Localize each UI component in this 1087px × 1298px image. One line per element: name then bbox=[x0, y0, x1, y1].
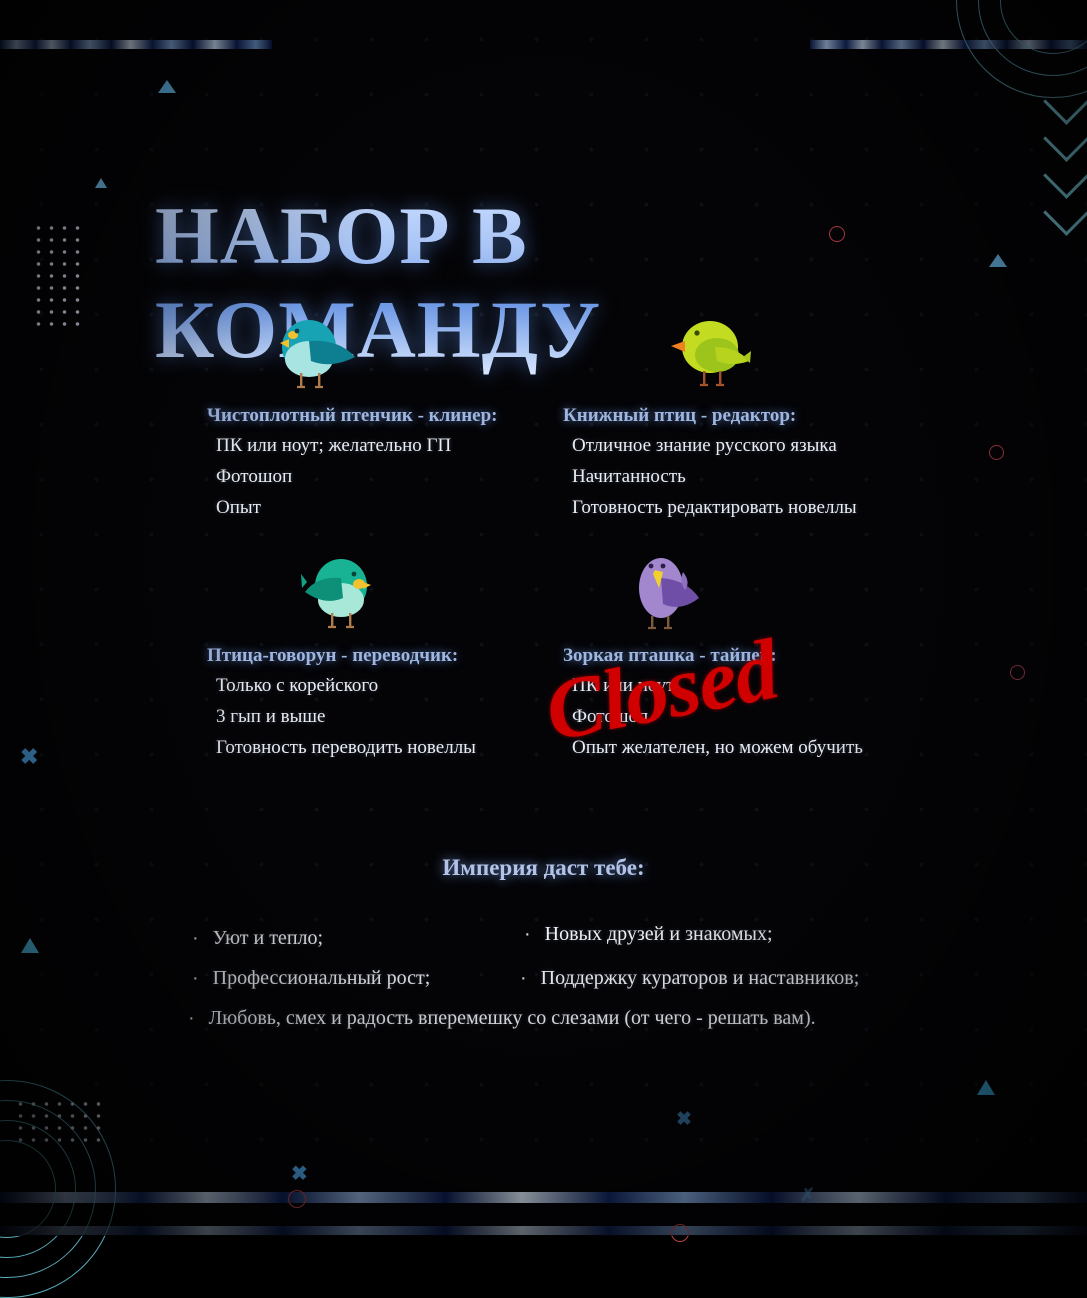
bird-icon-purple bbox=[625, 550, 711, 634]
role-heading: Зоркая пташка - тайпер: bbox=[563, 645, 863, 667]
role-item: Только с корейского bbox=[216, 674, 476, 698]
role-item: Фотошоп bbox=[216, 465, 498, 489]
decor-streak-bar-bottom-2 bbox=[0, 1226, 1087, 1235]
background-texture bbox=[0, 0, 1087, 1236]
benefit-text: Профессиональный рост; bbox=[213, 967, 431, 990]
bird-icon-green-teal bbox=[297, 552, 383, 634]
role-item: Отличное знание русского языка bbox=[572, 434, 857, 458]
bullet-icon: · bbox=[192, 968, 199, 988]
decor-x-icon: ✖ bbox=[291, 1164, 308, 1184]
role-block-translator: Птица-говорун - переводчик: Только с кор… bbox=[207, 645, 476, 766]
role-heading: Книжный птиц - редактор: bbox=[563, 405, 857, 427]
benefit-item: · Новых друзей и знакомых; bbox=[524, 923, 773, 946]
decor-x-icon: ✖ bbox=[676, 1110, 692, 1129]
decor-triangle-icon bbox=[989, 254, 1007, 267]
chevron-down-icon bbox=[1043, 189, 1087, 236]
role-heading: Чистоплотный птенчик - клинер: bbox=[207, 405, 498, 427]
bird-illustration-cleaner bbox=[269, 313, 361, 398]
role-block-cleaner: Чистоплотный птенчик - клинер: ПК или но… bbox=[207, 405, 498, 526]
role-item: Фотошоп bbox=[572, 705, 863, 729]
bird-illustration-typer bbox=[625, 550, 711, 639]
bullet-icon: · bbox=[192, 928, 199, 948]
role-item: ПК или ноут bbox=[572, 674, 863, 698]
decor-triangle-icon bbox=[158, 80, 176, 93]
decor-streak-bar-top-left bbox=[0, 40, 272, 49]
role-item: Готовность переводить новеллы bbox=[216, 736, 476, 760]
decor-circle-icon bbox=[989, 445, 1004, 460]
decor-triangle-icon bbox=[21, 938, 39, 953]
benefit-item: · Профессиональный рост; bbox=[192, 967, 430, 990]
bullet-icon: · bbox=[520, 968, 527, 988]
bird-illustration-editor bbox=[655, 313, 753, 398]
bullet-icon: · bbox=[524, 924, 531, 944]
benefit-text: Новых друзей и знакомых; bbox=[545, 923, 773, 946]
decor-streak-bar-bottom bbox=[0, 1192, 1087, 1203]
bullet-icon: · bbox=[188, 1008, 195, 1028]
benefit-text: Поддержку кураторов и наставников; bbox=[541, 967, 860, 990]
decor-triangle-icon bbox=[977, 1080, 995, 1095]
benefit-item: · Уют и тепло; bbox=[192, 927, 323, 950]
role-item: Опыт bbox=[216, 496, 498, 520]
bird-icon-yellow-green bbox=[655, 313, 753, 393]
benefit-text: Любовь, смех и радость вперемешку со сле… bbox=[209, 1007, 816, 1030]
vignette-overlay bbox=[0, 0, 1087, 1236]
decor-x-icon: ✖ bbox=[20, 746, 38, 768]
decor-circle-icon bbox=[288, 1190, 306, 1208]
decor-triangle-icon bbox=[95, 178, 107, 188]
role-item: 3 гып и выше bbox=[216, 705, 476, 729]
decor-circle-icon bbox=[1010, 665, 1025, 680]
role-item: Опыт желателен, но можем обучить bbox=[572, 736, 863, 760]
role-heading: Птица-говорун - переводчик: bbox=[207, 645, 476, 667]
benefit-text: Уют и тепло; bbox=[213, 927, 323, 950]
role-item: Готовность редактировать новеллы bbox=[572, 496, 857, 520]
decor-dot-grid bbox=[32, 222, 84, 326]
benefits-section: Империя даст тебе: · Уют и тепло; · Новы… bbox=[0, 855, 1087, 926]
role-item: ПК или ноут; желательно ГП bbox=[216, 434, 498, 458]
decor-chevron-down-icon-group bbox=[1050, 85, 1083, 233]
decor-circle-icon bbox=[671, 1224, 689, 1242]
role-block-typer: Зоркая пташка - тайпер: ПК или ноут Фото… bbox=[563, 645, 863, 766]
decor-dot-grid bbox=[14, 1098, 102, 1150]
benefit-item: · Любовь, смех и радость вперемешку со с… bbox=[188, 1007, 816, 1030]
bird-icon-cyan bbox=[269, 313, 361, 393]
benefits-title: Империя даст тебе: bbox=[0, 855, 1087, 881]
role-block-editor: Книжный птиц - редактор: Отличное знание… bbox=[563, 405, 857, 526]
benefit-item: · Поддержку кураторов и наставников; bbox=[520, 967, 859, 990]
role-item: Начитанность bbox=[572, 465, 857, 489]
decor-x-icon: ✗ bbox=[800, 1186, 815, 1204]
bird-illustration-translator bbox=[297, 552, 383, 639]
